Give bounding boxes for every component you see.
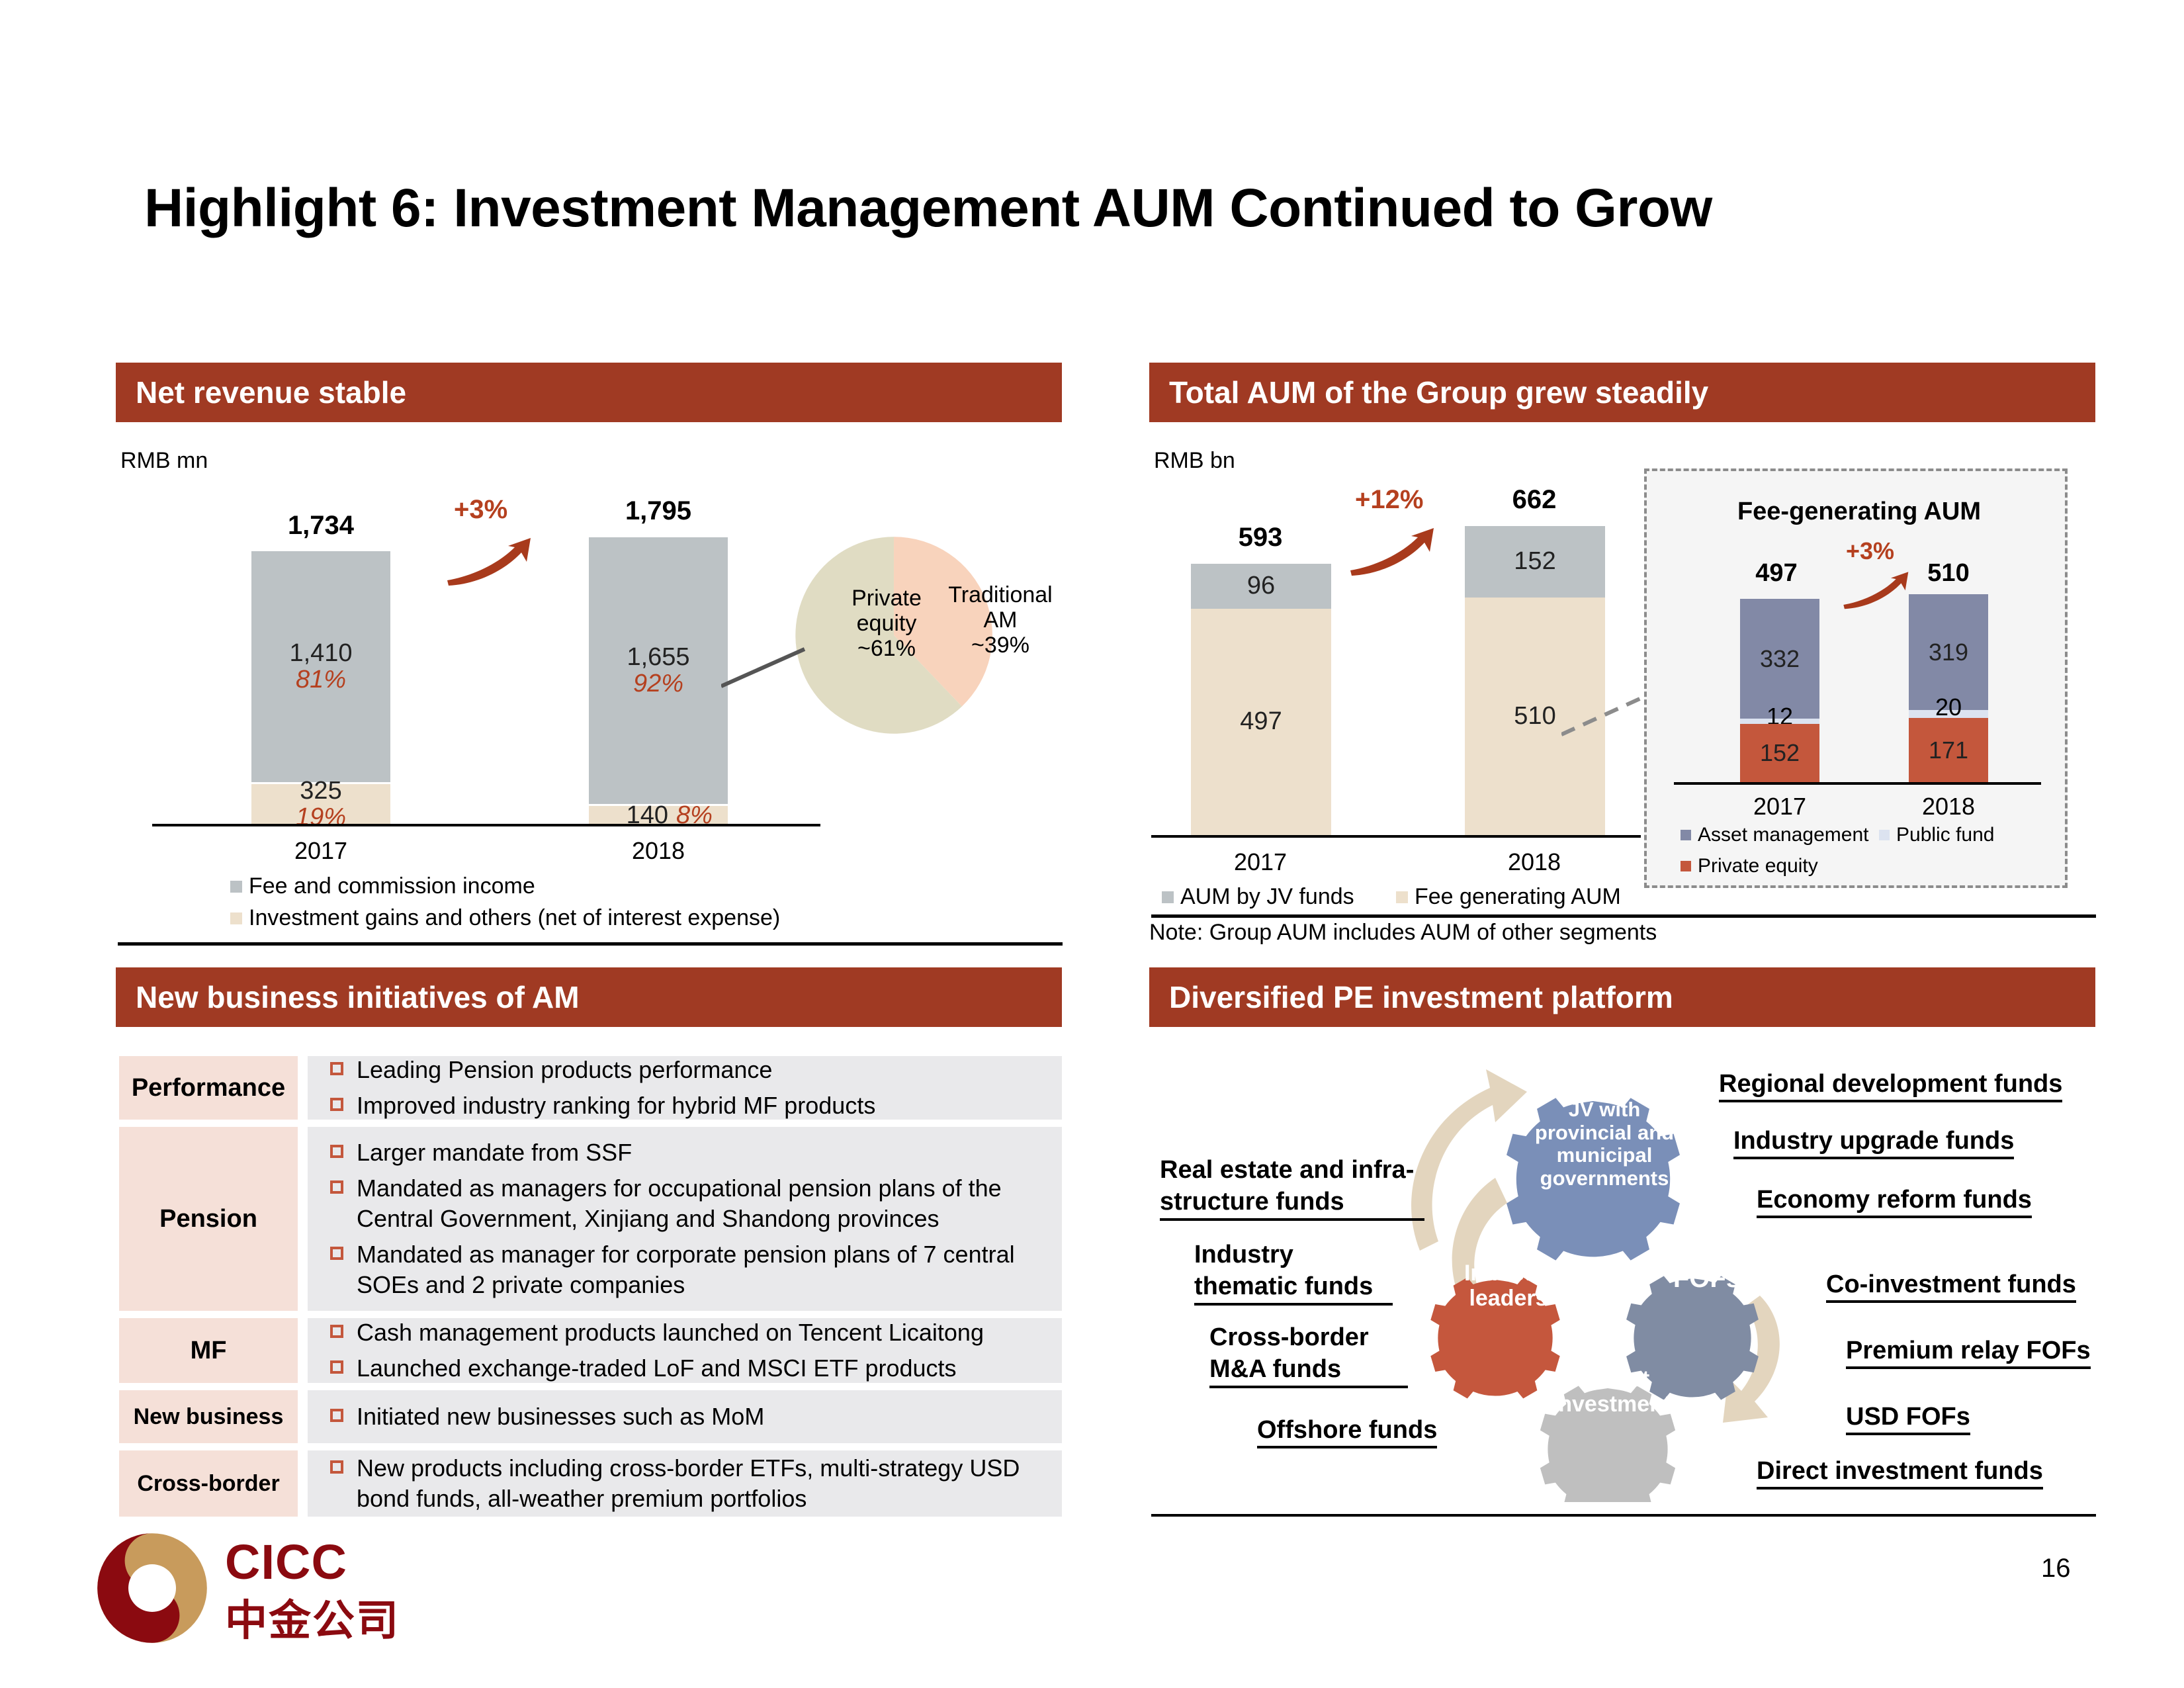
initiative-bullets-pension: Larger mandate from SSF Mandated as mana… [308,1127,1062,1311]
bar-value-invest-2017: 325 [251,778,390,805]
bullet-item: Mandated as manager for corporate pensio… [330,1239,1055,1300]
growth-arrow-icon-aum [1346,523,1446,582]
cicc-logo: CICC 中金公司 [86,1529,404,1648]
initiative-category-pension: Pension [119,1127,298,1311]
cicc-mark-icon [86,1529,218,1648]
bullet-item: Mandated as managers for occupational pe… [330,1173,1055,1234]
bullet-square-icon [330,1360,343,1374]
inset-category-2018: 2018 [1889,793,2008,821]
bar-value-fee-2017: 1,410 [289,641,352,667]
bar-segment-feegen-2017: 497 [1191,609,1331,835]
bullet-square-icon [330,1247,343,1260]
bar-value-jv-2018: 152 [1514,549,1555,575]
inset-connector-line [1561,688,1654,741]
bar-total-2018-left: 1,795 [582,496,734,526]
inset-value-am-2017: 332 [1760,646,1800,672]
legend-label-fee-generating: Fee generating AUM [1415,884,1621,910]
bar-total-2018-aum: 662 [1458,485,1610,515]
bar-segment-jv-2017: 96 [1191,564,1331,609]
bar-total-2017-left: 1,734 [245,511,397,541]
bar-value-feegen-2017: 497 [1240,709,1282,735]
gear-jv-governments [1507,1098,1680,1260]
initiative-category-cross-border: Cross-border [119,1450,298,1517]
section-header-net-revenue-label: Net revenue stable [136,375,406,410]
inset-value-am-2018: 319 [1929,640,1968,665]
legend-swatch-orange [1681,861,1691,871]
pie-label-private-equity: Private equity ~61% [820,586,953,661]
section-header-total-aum: Total AUM of the Group grew steadily [1149,363,2095,422]
bullet-square-icon [330,1180,343,1194]
bar-share-fee-2017: 81% [296,667,346,693]
inset-segment-pe-2018: 171 [1909,718,1988,782]
fund-label-offshore: Offshore funds [1257,1416,1437,1448]
fund-label-industry-upgrade: Industry upgrade funds [1733,1127,2014,1159]
axis-baseline-aum [1151,835,1641,838]
inset-total-2018: 510 [1889,559,2008,588]
legend-item-fee-generating: Fee generating AUM [1396,884,1621,910]
fund-label-usd-fofs: USD FOFs [1846,1403,1970,1435]
bar-share-invest-2017: 19% [251,805,390,831]
cicc-wordmark-latin: CICC [225,1534,347,1590]
page-title: Highlight 6: Investment Management AUM C… [144,177,2063,240]
bar-total-2017-aum: 593 [1184,523,1336,553]
axis-category-2017-left: 2017 [245,837,397,865]
axis-unit-left: RMB mn [120,448,208,474]
section-header-new-business: New business initiatives of AM [116,967,1062,1027]
inset-total-2017: 497 [1717,559,1836,588]
initiative-category-performance: Performance [119,1056,298,1120]
fund-label-cross-border-ma: Cross-border M&A funds [1209,1322,1408,1388]
growth-arrow-icon [443,533,543,592]
inset-legend-asset-management: Asset management [1681,824,1868,846]
bar-segment-fee-2017: 1,410 81% [251,551,390,782]
initiative-bullets-mf: Cash management products launched on Ten… [308,1318,1062,1383]
bullet-item: Larger mandate from SSF [330,1137,1055,1168]
bar-share-fee-2018: 92% [633,671,683,697]
axis-category-2017-aum: 2017 [1184,848,1336,876]
inset-value-pe-2018: 171 [1929,738,1968,763]
inset-legend-public-fund: Public fund [1879,824,1994,846]
inset-segment-am-2018: 319 [1909,594,1988,710]
bar-value-jv-2017: 96 [1247,573,1275,600]
section-header-new-business-label: New business initiatives of AM [136,979,580,1015]
fund-label-industry-thematic: Industry thematic funds [1194,1239,1393,1306]
inset-legend-label-public-fund: Public fund [1896,824,1994,846]
fund-label-premium-relay-fofs: Premium relay FOFs [1846,1337,2091,1369]
fund-label-economy-reform: Economy reform funds [1757,1186,2032,1218]
bullet-square-icon [330,1062,343,1075]
legend-swatch-gray-aum [1162,891,1174,903]
page-number: 16 [2041,1554,2071,1583]
inset-segment-am-2017: 332 [1740,599,1819,719]
legend-item-fee-commission: Fee and commission income [230,873,535,899]
bullet-item: Improved industry ranking for hybrid MF … [330,1090,1055,1121]
axis-unit-right: RMB bn [1154,448,1235,474]
inset-value-pe-2017: 152 [1760,740,1800,766]
divider-left-chart [118,942,1063,946]
legend-label-investment-gains: Investment gains and others (net of inte… [249,905,780,931]
bar-segment-fee-2018: 1,655 92% [589,537,728,804]
growth-label-net-revenue: +3% [454,495,507,525]
bar-value-feegen-2018: 510 [1514,703,1555,730]
inset-legend-label-asset-management: Asset management [1698,824,1868,846]
growth-label-total-aum: +12% [1355,485,1423,515]
bullet-item: Launched exchange-traded LoF and MSCI ET… [330,1353,1055,1384]
bullet-item: New products including cross-border ETFs… [330,1453,1055,1514]
inset-title: Fee-generating AUM [1720,498,1998,526]
legend-swatch-beige [230,912,242,924]
fund-label-regional-development: Regional development funds [1719,1070,2062,1102]
section-header-pe-platform-label: Diversified PE investment platform [1169,979,1673,1015]
axis-category-2018-left: 2018 [582,837,734,865]
section-header-net-revenue: Net revenue stable [116,363,1062,422]
legend-label-jv-funds: AUM by JV funds [1180,884,1354,910]
pie-leader-line [721,645,807,691]
gear-direct-investments [1540,1386,1675,1502]
bullet-item: Cash management products launched on Ten… [330,1317,1055,1348]
initiative-bullets-cross-border: New products including cross-border ETFs… [308,1450,1062,1517]
bar-segment-jv-2018: 152 [1465,526,1605,598]
fund-label-direct-investment: Direct investment funds [1757,1457,2043,1489]
inset-category-2017: 2017 [1720,793,1839,821]
initiative-category-mf: MF [119,1318,298,1383]
legend-item-investment-gains: Investment gains and others (net of inte… [230,905,780,931]
bullet-square-icon [330,1325,343,1338]
pie-label-traditional-am: Traditional AM ~39% [934,582,1067,658]
inset-legend-label-private-equity: Private equity [1698,855,1818,877]
inset-axis-baseline [1674,782,2041,785]
bar-value-fee-2018: 1,655 [627,644,689,671]
bullet-item: Initiated new businesses such as MoM [330,1401,1055,1432]
note-total-aum: Note: Group AUM includes AUM of other se… [1149,920,1657,946]
divider-pe-panel [1151,1514,2096,1517]
axis-baseline-left [152,824,820,826]
section-header-pe-platform: Diversified PE investment platform [1149,967,2095,1027]
fund-label-real-estate-infrastructure: Real estate and infra-structure funds [1160,1155,1424,1221]
divider-right-chart [1151,914,2096,918]
legend-swatch-beige-aum [1396,891,1408,903]
legend-swatch-lightblue [1879,830,1890,840]
bullet-square-icon [330,1409,343,1422]
bullet-square-icon [330,1460,343,1474]
gear-fofs [1626,1276,1759,1399]
inset-value-public-2018: 20 [1909,693,1988,721]
section-header-total-aum-label: Total AUM of the Group grew steadily [1169,375,1708,410]
bullet-item: Leading Pension products performance [330,1055,1055,1085]
fund-label-co-investment: Co-investment funds [1826,1270,2076,1303]
gear-industry-leaders [1430,1277,1559,1398]
inset-segment-pe-2017: 152 [1740,724,1819,782]
legend-label-fee-commission: Fee and commission income [249,873,535,899]
legend-item-jv-funds: AUM by JV funds [1162,884,1354,910]
bullet-square-icon [330,1098,343,1111]
legend-swatch-slate [1681,830,1691,840]
initiative-bullets-new-business: Initiated new businesses such as MoM [308,1390,1062,1443]
axis-category-2018-aum: 2018 [1458,848,1610,876]
bullet-square-icon [330,1145,343,1158]
cicc-wordmark-chinese: 中金公司 [225,1587,400,1648]
growth-label-feegen: +3% [1846,537,1894,565]
legend-swatch-gray [230,881,242,893]
inset-legend-private-equity: Private equity [1681,855,1818,877]
initiative-category-new-business: New business [119,1390,298,1443]
initiative-bullets-performance: Leading Pension products performance Imp… [308,1056,1062,1120]
